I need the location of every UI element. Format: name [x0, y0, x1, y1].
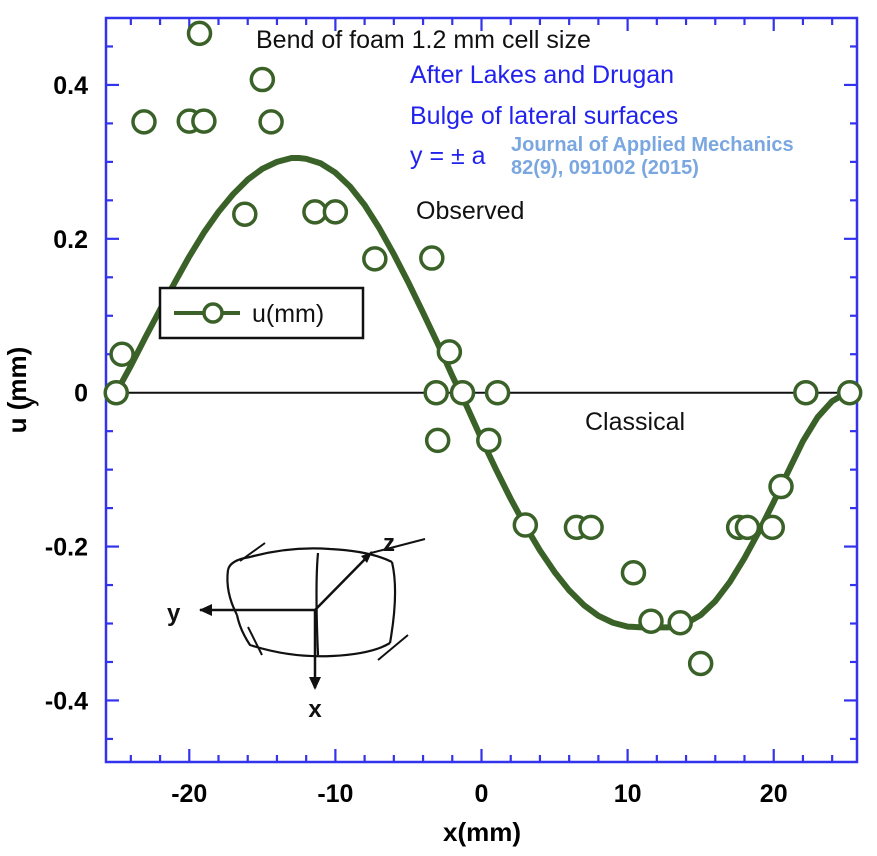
data-point-marker [425, 382, 447, 404]
data-point-marker [770, 476, 792, 498]
data-point-marker [189, 22, 211, 44]
data-point-marker [421, 247, 443, 269]
legend[interactable]: u(mm) [160, 288, 363, 338]
y-tick-label: 0.2 [53, 226, 88, 254]
data-point-marker [260, 111, 282, 133]
y-tick-label: 0.4 [53, 72, 88, 100]
x-tick-label: -10 [317, 780, 353, 808]
data-point-marker [251, 69, 273, 91]
data-point-marker [761, 516, 783, 538]
data-point-marker [324, 201, 346, 223]
y-axis-title-group: u (mm) y [2, 347, 39, 434]
data-point-marker [452, 382, 474, 404]
data-point-marker [234, 203, 256, 225]
data-point-marker [427, 429, 449, 451]
legend-entry-label: u(mm) [252, 300, 324, 328]
data-point-marker [487, 382, 509, 404]
bend-of-foam-scatter-chart: -20-10010200.40.20-0.2-0.4 x(mm) u (mm) … [0, 0, 877, 856]
annotation-after-lakes-drugan: After Lakes and Drugan [410, 61, 674, 89]
inset-axis-label-z: z [383, 530, 395, 557]
annotation-observed: Observed [416, 197, 524, 225]
y-axis-title-subscript: y [20, 397, 39, 407]
legend-marker-icon [204, 304, 222, 322]
data-point-marker [839, 382, 861, 404]
data-point-marker [736, 516, 758, 538]
data-point-marker [105, 382, 127, 404]
data-point-marker [364, 248, 386, 270]
y-tick-label: -0.4 [45, 687, 88, 715]
data-point-marker [580, 516, 602, 538]
data-point-marker [514, 514, 536, 536]
data-point-marker [193, 110, 215, 132]
x-tick-label: 10 [614, 780, 642, 808]
data-point-marker [478, 429, 500, 451]
data-point-marker [111, 343, 133, 365]
y-axis-title: u (mm) [2, 347, 32, 434]
data-point-marker [640, 610, 662, 632]
y-tick-label: 0 [74, 380, 88, 408]
annotation-journal-line1: Journal of Applied Mechanics [511, 134, 794, 156]
x-tick-label: -20 [171, 780, 207, 808]
data-point-marker [690, 653, 712, 675]
inset-axis-label-x: x [308, 696, 322, 723]
x-tick-label: 0 [475, 780, 489, 808]
annotation-classical: Classical [585, 408, 685, 436]
data-point-marker [795, 382, 817, 404]
annotation-journal-line2: 82(9), 091002 (2015) [511, 157, 699, 179]
data-point-marker [669, 612, 691, 634]
data-point-marker [622, 562, 644, 584]
data-point-marker [133, 111, 155, 133]
data-point-marker [438, 341, 460, 363]
annotation-bulge: Bulge of lateral surfaces [410, 102, 678, 130]
inset-axis-label-y: y [167, 600, 181, 627]
annotation-y-equals-plus-minus-a: y = ± a [410, 142, 486, 170]
chart-page: -20-10010200.40.20-0.2-0.4 x(mm) u (mm) … [0, 0, 877, 856]
annotation-title: Bend of foam 1.2 mm cell size [256, 26, 591, 54]
y-tick-label: -0.2 [45, 534, 88, 562]
x-tick-label: 20 [760, 780, 788, 808]
x-axis-title: x(mm) [443, 817, 521, 847]
